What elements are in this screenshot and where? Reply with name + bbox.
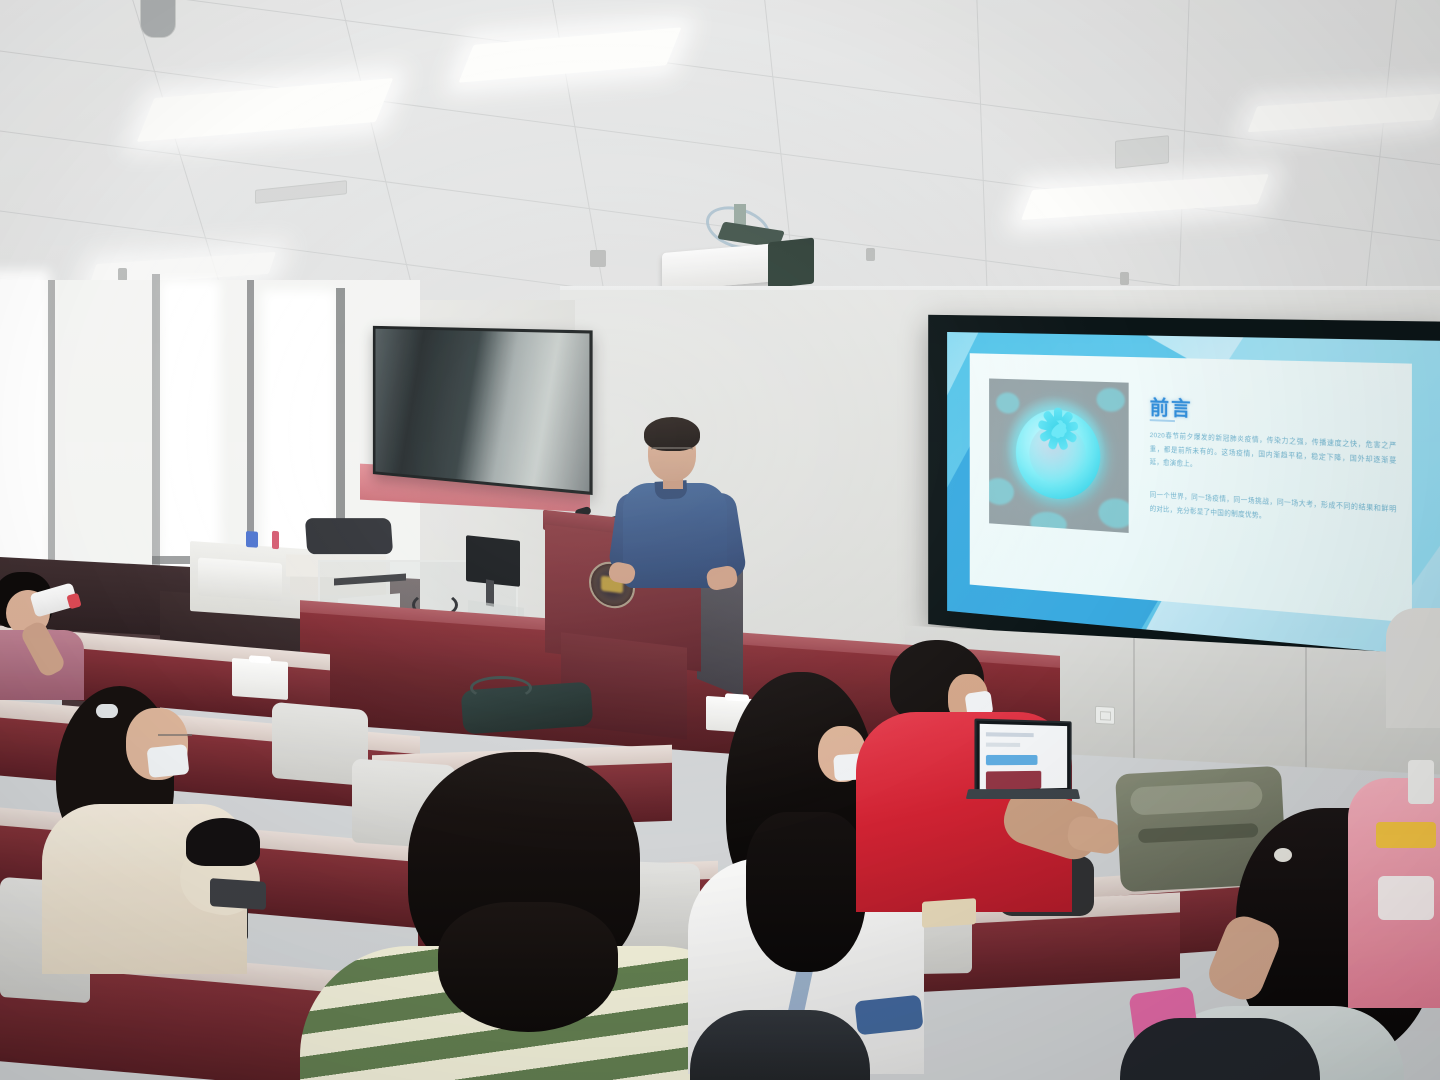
laptop-screen — [974, 718, 1071, 795]
presenter-right-hand — [705, 565, 738, 592]
shirt-graphic — [1378, 876, 1434, 920]
coronavirus-image — [989, 378, 1129, 533]
av-monitor — [466, 535, 520, 587]
student-back-row — [1386, 608, 1440, 728]
paper-cup — [1408, 760, 1434, 804]
ceiling-projector — [650, 238, 810, 290]
cap — [690, 1010, 870, 1080]
shirt-graphic — [1376, 822, 1436, 848]
laptop-webpage — [980, 724, 1067, 790]
presenter-at-lectern — [615, 415, 745, 645]
projector-body — [662, 243, 780, 291]
hair-front — [438, 902, 618, 1032]
notebook — [922, 898, 976, 928]
hair-front — [746, 812, 866, 972]
foreground-silhouette — [1120, 1018, 1320, 1080]
ceiling-vent — [1115, 135, 1169, 169]
projector-mount-bracket — [768, 238, 814, 289]
ceiling-speaker — [140, 0, 176, 38]
slide-title: 前言 — [1150, 391, 1193, 422]
device-bar — [334, 573, 406, 585]
bottle-cap — [66, 593, 81, 610]
blue-marker — [246, 531, 258, 548]
projection-screen: 前言 2020春节前夕爆发的新冠肺炎疫情，传染力之强，传播速度之快，危害之严重，… — [928, 315, 1440, 676]
slide-paragraph-1: 2020春节前夕爆发的新冠肺炎疫情，传染力之强，传播速度之快，危害之严重，都是前… — [1150, 429, 1397, 482]
slide-content-card: 前言 2020春节前夕爆发的新冠肺炎疫情，传染力之强，传播速度之快，危害之严重，… — [970, 353, 1412, 622]
wall-mounted-display — [373, 326, 593, 495]
slide-paragraph-2: 同一个世界，同一场疫情，同一场挑战，同一场大考，形成不同的结果和鲜明的对比，充分… — [1150, 489, 1397, 532]
wall-seam — [1305, 647, 1307, 767]
sprinkler-head — [1120, 272, 1129, 285]
white-equipment-box — [198, 558, 282, 602]
hair — [186, 818, 260, 866]
laptop-keyboard[interactable] — [966, 789, 1080, 799]
sprinkler-head — [590, 250, 606, 267]
hair-clip — [96, 704, 118, 718]
wall-seam — [1133, 638, 1135, 758]
slide-title-underline — [1150, 419, 1175, 422]
student-back-row — [176, 818, 286, 938]
slide-surface: 前言 2020春节前夕爆发的新冠肺炎疫情，传染力之强，传播速度之快，危害之严重，… — [947, 332, 1440, 657]
face-mask — [147, 744, 190, 778]
eyeglasses — [158, 734, 192, 743]
torso — [1386, 608, 1440, 728]
bag-strap — [470, 676, 532, 700]
student-pink-graphic-tee — [1348, 778, 1440, 1008]
sprinkler-head — [866, 248, 875, 261]
bag-on-desk — [210, 878, 266, 910]
pen — [272, 531, 279, 549]
shoulder-bag — [305, 518, 393, 554]
hair-clip — [1274, 848, 1292, 862]
open-laptop[interactable] — [975, 720, 1071, 798]
classroom-photo: 前言 2020春节前夕爆发的新冠肺炎疫情，传染力之强，传播速度之快，危害之严重，… — [0, 0, 1440, 1080]
eyeglasses — [651, 447, 693, 458]
presenter-hair — [644, 417, 700, 451]
student-back-row — [690, 1010, 870, 1080]
